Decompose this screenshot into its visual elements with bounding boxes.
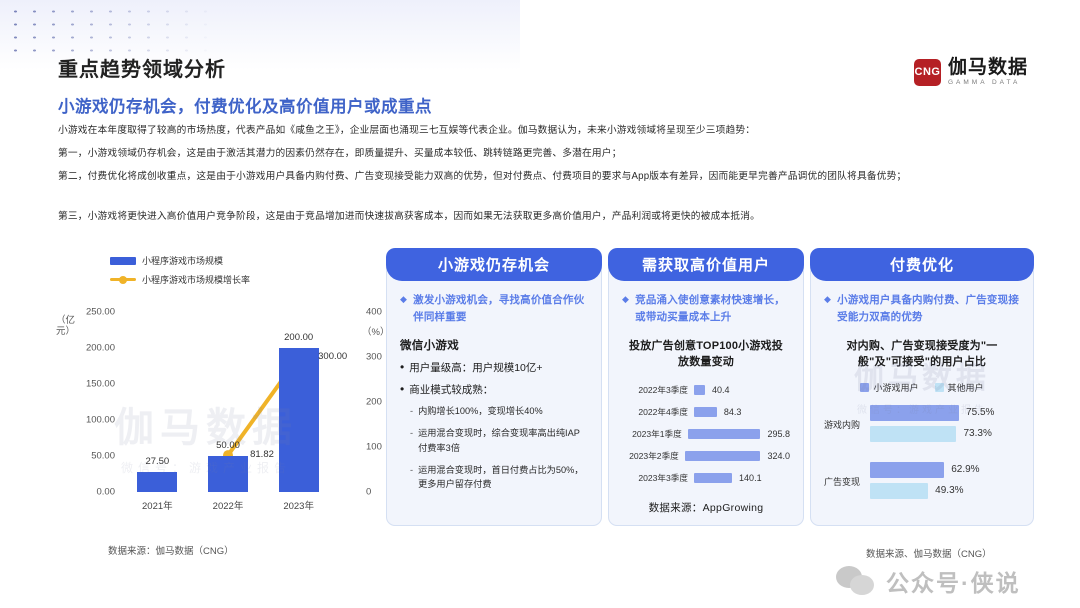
legend-item-bar: 小程序游戏市场规模 <box>110 254 250 267</box>
chart-row: 62.9% <box>870 461 1020 479</box>
source-note-left: 数据来源：伽马数据（CNG） <box>108 543 234 557</box>
dot-bullet-icon: • <box>400 360 404 376</box>
dash-bullet-icon: - <box>410 463 413 492</box>
bar-category-label: 2023年3季度 <box>622 472 694 484</box>
bar-category-label: 2023年1季度 <box>622 428 688 440</box>
bar-category-label: 2022年4季度 <box>622 406 694 418</box>
card-opportunity[interactable]: 小游戏仍存机会 ◆ 激发小游戏机会，寻找高价值合作伙伴同样重要 微信小游戏 • … <box>386 248 602 526</box>
logo-text-en: GAMMA DATA <box>948 80 1028 87</box>
card1-bullet-1: • 商业模式较成熟： <box>400 382 588 398</box>
card1-subbullet-2-text: 运用混合变现时，首日付费占比为50%，更多用户留存付费 <box>418 463 588 492</box>
bar-value-label: 295.8 <box>767 429 790 439</box>
y-axis-tick: 250.00 <box>86 307 115 318</box>
chart-row: 2022年4季度84.3 <box>622 403 790 422</box>
y2-axis-title: （%） <box>362 328 378 339</box>
bar-value-label: 324.0 <box>767 451 790 461</box>
y-axis-tick: 0.00 <box>97 487 116 498</box>
bar-group-label: 广告变现 <box>824 475 870 488</box>
dot-bullet-icon: • <box>400 382 404 398</box>
dot-pattern-decoration <box>0 0 300 58</box>
card-body-high-value-users: ◆ 竞品涌入使创意素材快速增长，或带动买量成本上升 投放广告创意TOP100小游… <box>608 281 804 526</box>
chart-row: 2023年2季度324.0 <box>622 447 790 466</box>
card1-subbullet-0: - 内购增长100%，变现增长40% <box>410 404 588 418</box>
card-payment-optimization[interactable]: 付费优化 ◆ 小游戏用户具备内购付费、广告变现接受能力双高的优势 对内购、广告变… <box>810 248 1034 526</box>
payment-acceptance-chart: 游戏内购75.5%73.3%广告变现62.9%49.3% <box>824 404 1020 503</box>
diamond-bullet-icon: ◆ <box>622 292 629 326</box>
legend-swatch-b-icon <box>935 383 944 392</box>
slide-root: 重点趋势领域分析 CNG 伽马数据 GAMMA DATA 小游戏仍存机会，付费优… <box>0 0 1080 608</box>
y2-axis-tick: 200 <box>366 397 382 408</box>
diamond-bullet-icon: ◆ <box>824 292 831 326</box>
card-title-payment-optimization: 付费优化 <box>810 248 1034 281</box>
card3-legend-label-a: 小游戏用户 <box>873 383 918 393</box>
chart-group: 广告变现62.9%49.3% <box>824 461 1020 503</box>
card3-highlight: ◆ 小游戏用户具备内购付费、广告变现接受能力双高的优势 <box>824 292 1020 326</box>
y2-axis-tick: 300 <box>366 352 382 363</box>
section-subheading: 小游戏仍存机会，付费优化及高价值用户或成重点 <box>58 93 432 117</box>
legend-swatch-a-icon <box>860 383 869 392</box>
bar-value-label: 75.5% <box>966 407 994 418</box>
wechat-account-label: 公众号·侠说 <box>886 564 1021 598</box>
legend-line-label: 小程序游戏市场规模增长率 <box>142 273 250 286</box>
wechat-icon <box>836 566 876 596</box>
line-value-label: 81.82 <box>250 449 274 460</box>
bar-value-label: 73.3% <box>963 428 991 439</box>
chart-bar <box>208 456 248 492</box>
card2-chart-title: 投放广告创意TOP100小游戏投放数量变动 <box>624 338 788 371</box>
page-title: 重点趋势领域分析 <box>58 53 226 82</box>
bar-value-label: 200.00 <box>284 332 313 343</box>
card3-legend-label-b: 其他用户 <box>948 383 984 393</box>
chart-bar <box>685 451 761 461</box>
card1-highlight-text: 激发小游戏机会，寻找高价值合作伙伴同样重要 <box>413 292 588 326</box>
chart-bar <box>279 348 319 492</box>
card-high-value-users[interactable]: 需获取高价值用户 ◆ 竞品涌入使创意素材快速增长，或带动买量成本上升 投放广告创… <box>608 248 804 526</box>
y-axis-tick: 100.00 <box>86 415 115 426</box>
card1-bullet-0-text: 用户量级高：用户规模10亿+ <box>409 360 542 376</box>
dash-bullet-icon: - <box>410 404 413 418</box>
bar-value-label: 49.3% <box>935 485 963 496</box>
legend-bar-label: 小程序游戏市场规模 <box>142 254 223 267</box>
bar-category-label: 2022年3季度 <box>622 384 694 396</box>
card1-bullet-1-text: 商业模式较成熟： <box>409 382 493 398</box>
legend-item-line: 小程序游戏市场规模增长率 <box>110 273 250 286</box>
chart-bar <box>694 385 705 395</box>
logo-text: 伽马数据 GAMMA DATA <box>948 58 1028 87</box>
chart-legend: 小程序游戏市场规模 小程序游戏市场规模增长率 <box>110 254 250 292</box>
card-body-payment-optimization: ◆ 小游戏用户具备内购付费、广告变现接受能力双高的优势 对内购、广告变现接受度为… <box>810 281 1034 526</box>
chart-row: 2022年3季度40.4 <box>622 381 790 400</box>
card3-legend: 小游戏用户 其他用户 <box>824 381 1020 394</box>
y-axis-tick: 200.00 <box>86 343 115 354</box>
card3-chart-title: 对内购、广告变现接受度为"一般"及"可接受"的用户占比 <box>826 338 1018 371</box>
card3-highlight-text: 小游戏用户具备内购付费、广告变现接受能力双高的优势 <box>837 292 1020 326</box>
logo-text-cn: 伽马数据 <box>948 58 1028 77</box>
bar-value-label: 27.50 <box>145 456 169 467</box>
body-paragraph-1: 小游戏在本年度取得了较高的市场热度，代表产品如《咸鱼之王》，企业层面也涌现三七互… <box>58 122 1023 141</box>
card1-subbullet-1-text: 运用混合变现时，综合变现率高出纯IAP付费率3倍 <box>418 426 588 455</box>
chart-bar <box>870 405 959 421</box>
y2-axis-tick: 400 <box>366 307 382 318</box>
card2-highlight-text: 竞品涌入使创意素材快速增长，或带动买量成本上升 <box>635 292 790 326</box>
line-value-label: 300.00 <box>318 351 347 362</box>
body-paragraph-3: 第二，付费优化将成创收重点，这是由于小游戏用户具备内购付费、广告变现接受能力双高… <box>58 168 1023 187</box>
card-title-high-value-users: 需获取高价值用户 <box>608 248 804 281</box>
market-size-chart: 小程序游戏市场规模 小程序游戏市场规模增长率 （亿元） （%） 0.0050.0… <box>50 250 380 525</box>
chart-bar <box>870 426 956 442</box>
chart-row: 49.3% <box>870 482 1020 500</box>
card1-subbullet-2: - 运用混合变现时，首日付费占比为50%，更多用户留存付费 <box>410 463 588 492</box>
x-axis-tick: 2022年 <box>213 498 244 512</box>
legend-line-swatch-icon <box>110 278 136 281</box>
chart-bar <box>694 407 717 417</box>
y2-axis-tick: 0 <box>366 487 371 498</box>
y-axis-tick: 50.00 <box>91 451 115 462</box>
chart-group-bars: 75.5%73.3% <box>870 404 1020 446</box>
card1-bullet-0: • 用户量级高：用户规模10亿+ <box>400 360 588 376</box>
chart-row: 75.5% <box>870 404 1020 422</box>
y-axis-title: （亿元） <box>56 316 72 337</box>
y2-axis-tick: 100 <box>366 442 382 453</box>
chart-bar <box>688 429 761 439</box>
card3-legend-item-a: 小游戏用户 <box>860 381 918 394</box>
body-paragraph-2: 第一，小游戏领域仍存机会，这是由于激活其潜力的因素仍然存在，即质量提升、买量成本… <box>58 145 1023 164</box>
logo-mark-icon: CNG <box>914 59 941 86</box>
wechat-account-watermark: 公众号·侠说 <box>836 564 1021 598</box>
body-paragraph-4: 第三，小游戏将更快进入高价值用户竞争阶段，这是由于竞品增加进而快速拔高获客成本，… <box>58 208 1023 227</box>
bar-value-label: 40.4 <box>712 385 730 395</box>
bar-value-label: 140.1 <box>739 473 762 483</box>
chart-bar <box>870 483 928 499</box>
card2-highlight: ◆ 竞品涌入使创意素材快速增长，或带动买量成本上升 <box>622 292 790 326</box>
x-axis-tick: 2021年 <box>142 498 173 512</box>
source-note-right: 数据来源、伽马数据（CNG） <box>866 546 992 560</box>
y-axis-tick: 150.00 <box>86 379 115 390</box>
card2-source-note: 数据来源：AppGrowing <box>622 500 790 515</box>
bar-group-label: 游戏内购 <box>824 418 870 431</box>
card1-subbullet-0-text: 内购增长100%，变现增长40% <box>418 404 543 418</box>
top100-ad-creatives-chart: 2022年3季度40.42022年4季度84.32023年1季度295.8202… <box>622 381 790 488</box>
bar-category-label: 2023年2季度 <box>622 450 685 462</box>
card-title-opportunity: 小游戏仍存机会 <box>386 248 602 281</box>
bar-value-label: 50.00 <box>216 440 240 451</box>
chart-group-bars: 62.9%49.3% <box>870 461 1020 503</box>
card1-highlight: ◆ 激发小游戏机会，寻找高价值合作伙伴同样重要 <box>400 292 588 326</box>
chart-bar <box>137 472 177 492</box>
x-axis-tick: 2023年 <box>283 498 314 512</box>
bar-value-label: 84.3 <box>724 407 742 417</box>
bar-value-label: 62.9% <box>951 464 979 475</box>
chart-row: 2023年1季度295.8 <box>622 425 790 444</box>
chart-plot-area: 0.0050.00100.00150.00200.00250.000100200… <box>122 312 334 492</box>
diamond-bullet-icon: ◆ <box>400 292 407 326</box>
card1-section-title: 微信小游戏 <box>400 337 588 353</box>
card1-subbullet-1: - 运用混合变现时，综合变现率高出纯IAP付费率3倍 <box>410 426 588 455</box>
dash-bullet-icon: - <box>410 426 413 455</box>
brand-logo: CNG 伽马数据 GAMMA DATA <box>914 58 1028 87</box>
chart-row: 73.3% <box>870 425 1020 443</box>
chart-bar <box>870 462 944 478</box>
card3-legend-item-b: 其他用户 <box>935 381 984 394</box>
chart-bar <box>694 473 732 483</box>
card-body-opportunity: ◆ 激发小游戏机会，寻找高价值合作伙伴同样重要 微信小游戏 • 用户量级高：用户… <box>386 281 602 526</box>
chart-row: 2023年3季度140.1 <box>622 469 790 488</box>
chart-group: 游戏内购75.5%73.3% <box>824 404 1020 446</box>
legend-bar-swatch-icon <box>110 257 136 265</box>
